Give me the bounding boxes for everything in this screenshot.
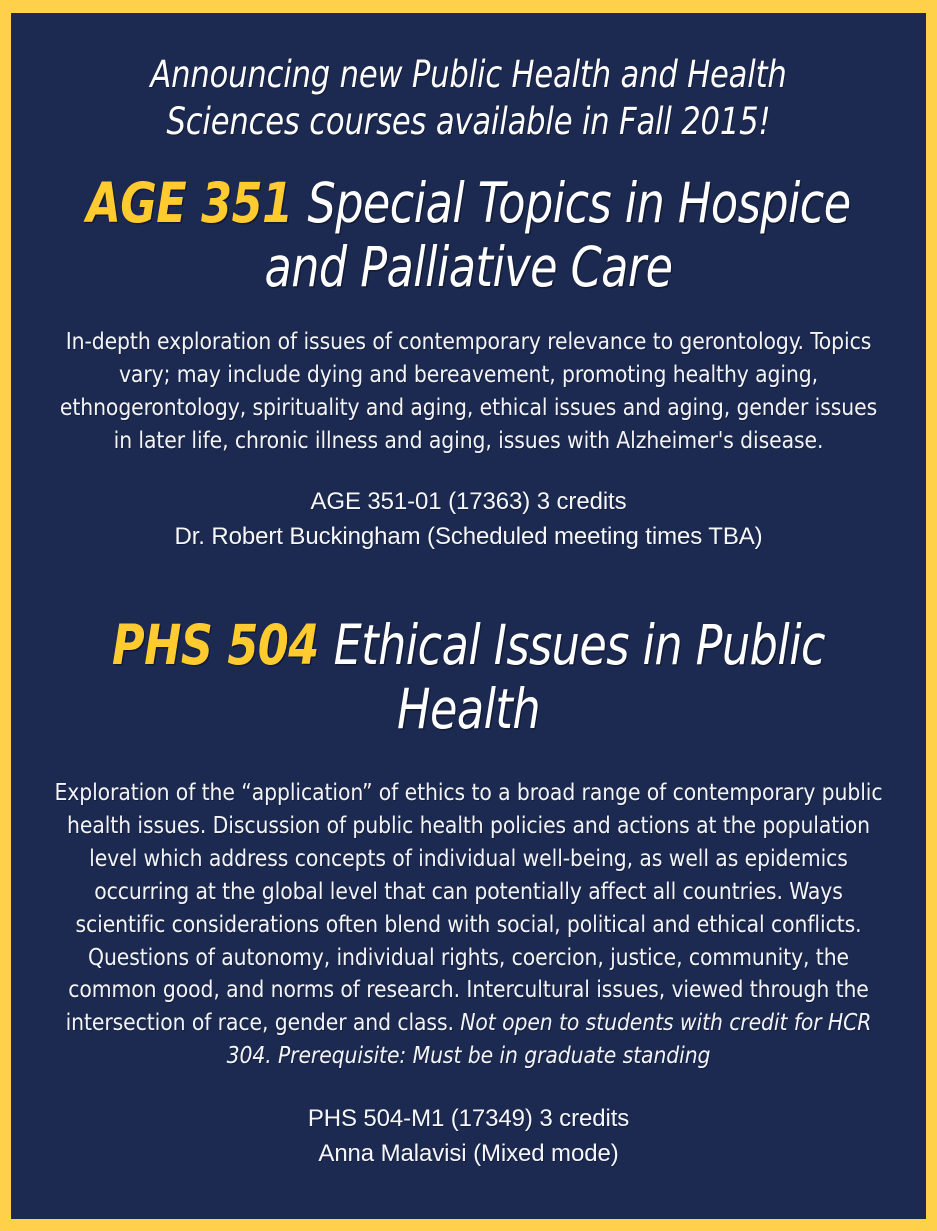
course-details-age-351: AGE 351-01 (17363) 3 credits Dr. Robert … (11, 485, 926, 555)
course-section-line-age-351: AGE 351-01 (17363) 3 credits (11, 485, 926, 520)
course-instructor-line-age-351: Dr. Robert Buckingham (Scheduled meeting… (11, 520, 926, 555)
poster-body: Announcing new Public Health and Health … (11, 13, 926, 1219)
course-title-text-phs-504: Ethical Issues in Public Health (334, 613, 825, 741)
course-description-text-age-351: In-depth exploration of issues of contem… (60, 327, 877, 454)
course-code-age-351: AGE 351 (86, 171, 307, 235)
course-description-phs-504: Exploration of the “application” of ethi… (27, 776, 910, 1072)
course-title-age-351: AGE 351 Special Topics in Hospice and Pa… (57, 172, 881, 300)
course-details-phs-504: PHS 504-M1 (17349) 3 credits Anna Malavi… (11, 1102, 926, 1172)
course-section-line-phs-504: PHS 504-M1 (17349) 3 credits (11, 1102, 926, 1137)
course-block-age-351: AGE 351 Special Topics in Hospice and Pa… (11, 172, 926, 555)
course-code-phs-504: PHS 504 (112, 613, 334, 677)
course-description-age-351: In-depth exploration of issues of contem… (27, 325, 910, 457)
course-title-text-age-351: Special Topics in Hospice and Palliative… (264, 171, 850, 299)
course-title-phs-504: PHS 504 Ethical Issues in Public Health (57, 614, 881, 742)
course-instructor-line-phs-504: Anna Malavisi (Mixed mode) (11, 1137, 926, 1172)
course-block-phs-504: PHS 504 Ethical Issues in Public Health … (11, 614, 926, 1171)
course-description-text-phs-504: Exploration of the “application” of ethi… (54, 778, 882, 1036)
course-announcement-poster: Announcing new Public Health and Health … (0, 0, 937, 1231)
announcement-headline: Announcing new Public Health and Health … (48, 51, 890, 146)
